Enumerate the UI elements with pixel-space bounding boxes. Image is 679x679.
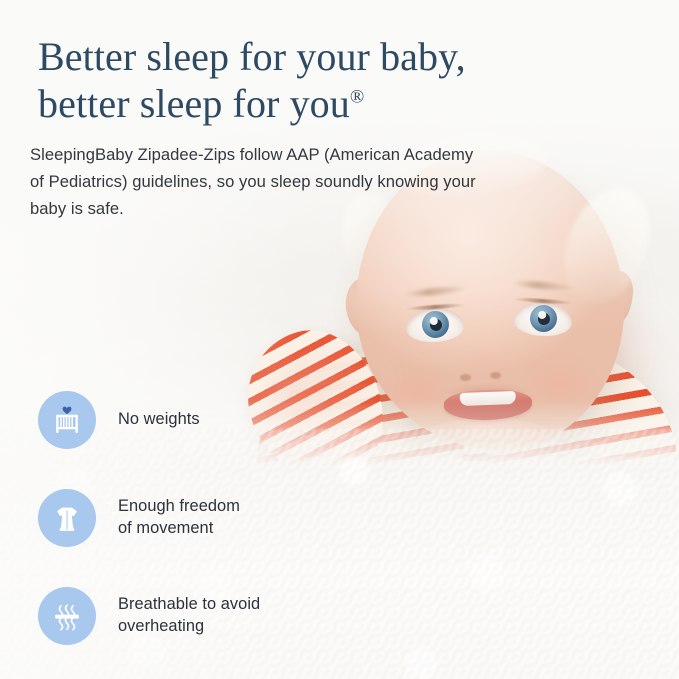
product-feature-graphic: Better sleep for your baby,better sleep … bbox=[0, 0, 679, 679]
headline-line-2: better sleep for you bbox=[38, 81, 350, 126]
feature-label: Breathable to avoid overheating bbox=[118, 594, 260, 638]
marketing-copy: Better sleep for your baby,better sleep … bbox=[0, 0, 679, 679]
feature-item-breathable: Breathable to avoid overheating bbox=[38, 584, 368, 648]
breathable-airflow-icon bbox=[38, 587, 96, 645]
feature-label: Enough freedom of movement bbox=[118, 496, 240, 540]
registered-trademark-icon: ® bbox=[350, 86, 365, 107]
feature-item-no-weights: No weights bbox=[38, 388, 368, 452]
sleep-sack-icon bbox=[38, 489, 96, 547]
feature-list: No weights Enough freedom of movement bbox=[38, 388, 368, 648]
feature-label: No weights bbox=[118, 409, 200, 431]
subheading-paragraph: SleepingBaby Zipadee-Zips follow AAP (Am… bbox=[30, 142, 482, 223]
page-title: Better sleep for your baby,better sleep … bbox=[38, 34, 558, 128]
feature-item-freedom-of-movement: Enough freedom of movement bbox=[38, 486, 368, 550]
headline-line-1: Better sleep for your baby, bbox=[38, 34, 466, 79]
crib-heart-icon bbox=[38, 391, 96, 449]
